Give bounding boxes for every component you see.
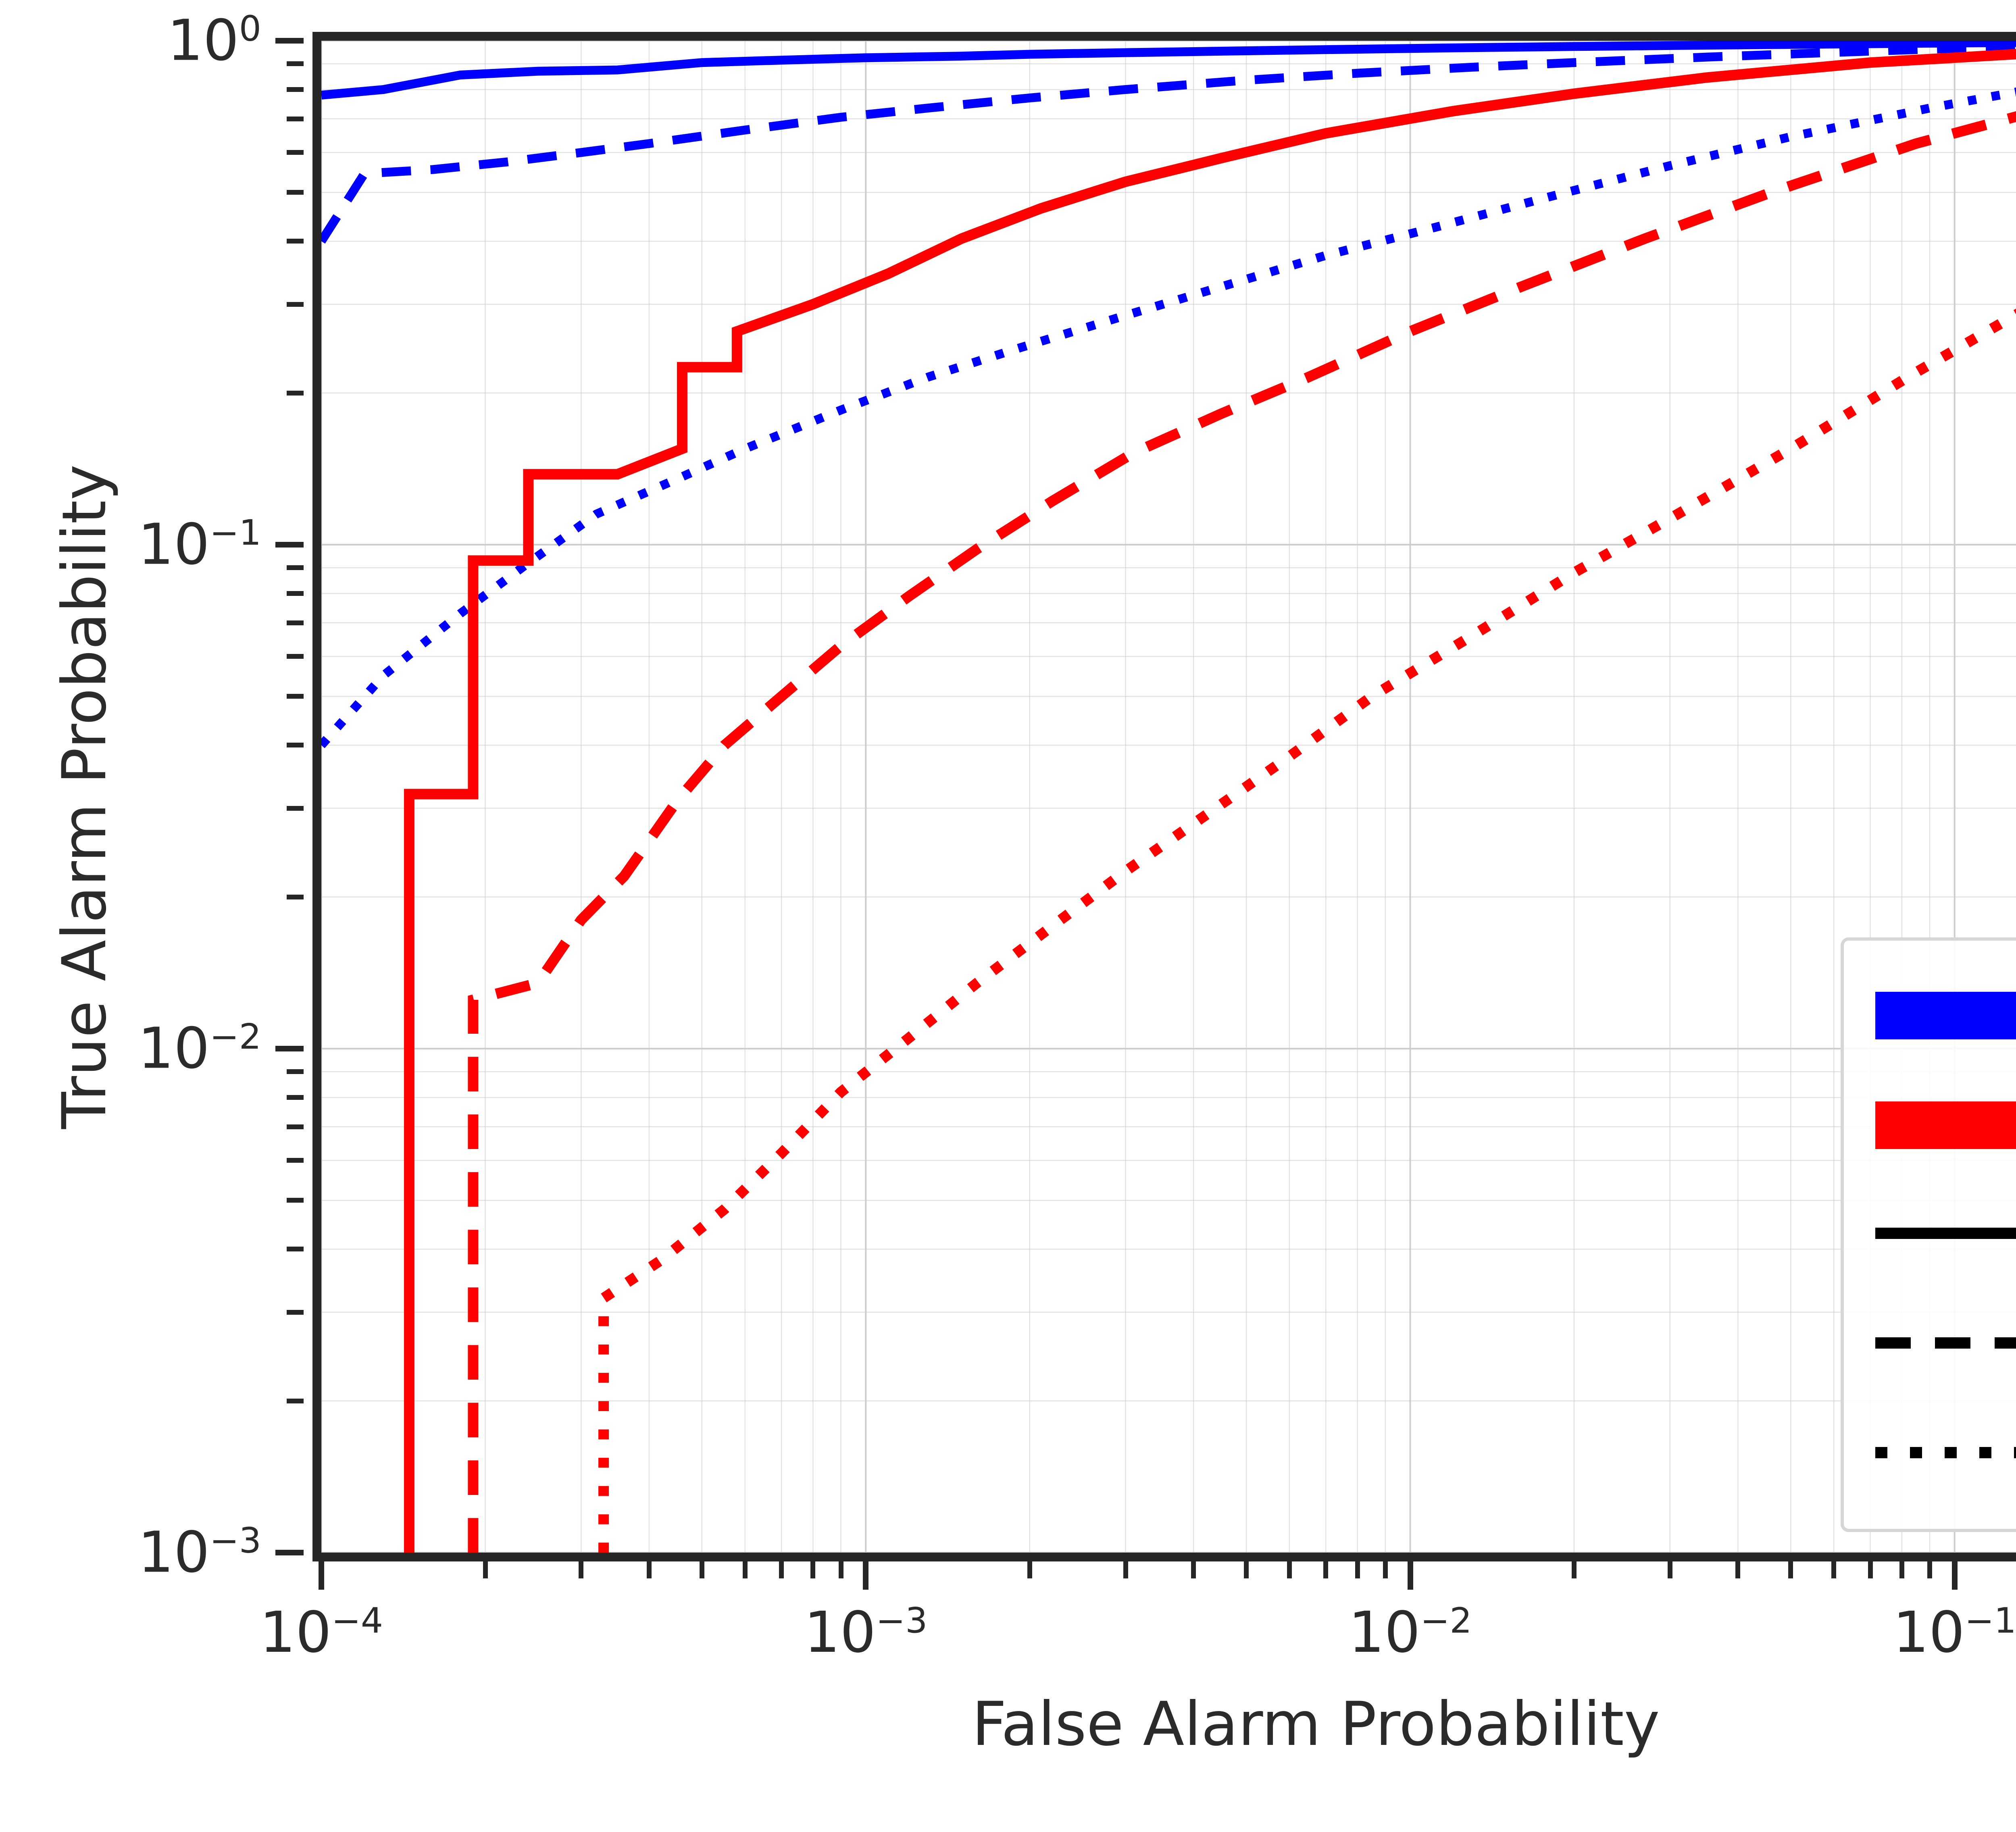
x-tick-minor (1788, 1561, 1793, 1578)
y-tick-label: 10−1 (138, 512, 261, 578)
x-tick-minor (1323, 1561, 1328, 1578)
y-tick-label: 10−2 (138, 1016, 261, 1082)
y-tick-label: 10−3 (138, 1520, 261, 1586)
legend-line-dashed (1875, 1337, 2016, 1349)
y-tick-minor (287, 694, 304, 699)
legend-item[interactable]: SNR = 8 (1844, 1288, 2016, 1398)
y-tick-minor (287, 391, 304, 396)
legend-key (1875, 1321, 2016, 1365)
y-tick-minor (287, 1198, 304, 1203)
y-tick-minor (287, 654, 304, 659)
legend[interactable]: BBH signalBNS signalSNR = 10SNR = 8SNR =… (1841, 937, 2016, 1532)
legend-item[interactable]: BNS signal (1844, 1069, 2016, 1178)
y-tick-minor (287, 591, 304, 596)
plot-canvas (321, 41, 2016, 1553)
x-tick-minor (1868, 1561, 1873, 1578)
roc-curves (321, 41, 2016, 1553)
y-tick-minor (287, 87, 304, 92)
x-tick-minor (1668, 1561, 1672, 1578)
x-tick-minor (779, 1561, 784, 1578)
x-tick-label: 10−3 (804, 1600, 927, 1665)
x-tick-minor (579, 1561, 583, 1578)
x-tick-minor (1244, 1561, 1249, 1578)
x-tick-label: 10−1 (1893, 1600, 2016, 1665)
x-tick-major (863, 1561, 868, 1590)
y-tick-minor (287, 743, 304, 747)
y-tick-minor (287, 620, 304, 625)
legend-item[interactable]: SNR = 6 (1844, 1398, 2016, 1507)
y-tick-minor (287, 1247, 304, 1251)
x-tick-major (1952, 1561, 1958, 1590)
x-tick-minor (1355, 1561, 1360, 1578)
plot-area (312, 32, 2016, 1561)
y-tick-major (275, 1550, 304, 1555)
x-tick-minor (1572, 1561, 1577, 1578)
x-tick-minor (1735, 1561, 1740, 1578)
y-tick-minor (287, 150, 304, 155)
y-tick-minor (287, 239, 304, 244)
x-tick-minor (743, 1561, 748, 1578)
series-bns-snr-=-6 (604, 41, 2016, 1553)
series-bns-snr-=-8 (473, 41, 2016, 1553)
y-tick-major (275, 1046, 304, 1051)
y-tick-minor (287, 302, 304, 307)
roc-figure: 10−410−310−210−110010010−110−210−3 False… (0, 0, 2016, 1832)
legend-item[interactable]: BBH signal (1844, 959, 2016, 1069)
y-tick-minor (287, 1069, 304, 1074)
y-axis-label: True Alarm Probability (52, 32, 117, 1561)
x-tick-minor (1383, 1561, 1388, 1578)
x-tick-major (1408, 1561, 1413, 1590)
legend-key (1875, 1101, 2016, 1146)
legend-line-dotted (1875, 1447, 2016, 1458)
x-tick-minor (1927, 1561, 1932, 1578)
x-tick-minor (647, 1561, 652, 1578)
x-tick-minor (1287, 1561, 1292, 1578)
y-tick-minor (287, 190, 304, 195)
series-bbh-snr-=-6 (321, 41, 2016, 745)
y-tick-major (275, 38, 304, 44)
x-tick-major (319, 1561, 324, 1590)
y-tick-minor (287, 117, 304, 121)
legend-key (1875, 992, 2016, 1036)
legend-swatch-bbh (1875, 992, 2016, 1039)
x-tick-minor (483, 1561, 488, 1578)
y-tick-major (275, 542, 304, 548)
legend-key (1875, 1430, 2016, 1475)
x-tick-minor (1831, 1561, 1836, 1578)
x-tick-minor (1899, 1561, 1904, 1578)
legend-key (1875, 1211, 2016, 1255)
x-tick-minor (839, 1561, 843, 1578)
x-tick-minor (1027, 1561, 1032, 1578)
y-tick-minor (287, 1095, 304, 1100)
x-tick-minor (810, 1561, 815, 1578)
legend-swatch-bns (1875, 1101, 2016, 1149)
y-tick-minor (287, 61, 304, 66)
y-tick-minor (287, 565, 304, 570)
y-tick-label: 100 (167, 8, 261, 74)
y-tick-minor (287, 1399, 304, 1403)
y-tick-minor (287, 1124, 304, 1129)
y-tick-minor (287, 806, 304, 811)
x-tick-minor (700, 1561, 704, 1578)
x-tick-minor (1191, 1561, 1196, 1578)
x-axis-label: False Alarm Probability (0, 1689, 2016, 1759)
series-bns-snr-=-10 (409, 41, 2016, 1553)
x-tick-label: 10−2 (1348, 1600, 1472, 1665)
legend-line-solid (1875, 1228, 2016, 1239)
x-tick-minor (1123, 1561, 1128, 1578)
legend-item[interactable]: SNR = 10 (1844, 1178, 2016, 1288)
y-tick-minor (287, 895, 304, 899)
y-tick-minor (287, 1158, 304, 1163)
y-tick-minor (287, 1310, 304, 1315)
x-tick-label: 10−4 (260, 1600, 383, 1665)
